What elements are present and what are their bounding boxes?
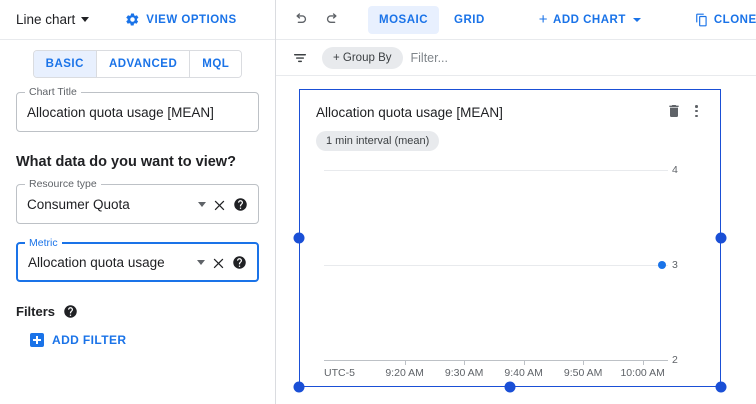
kebab-dot (695, 115, 698, 118)
add-chart-label: ADD CHART (553, 14, 626, 26)
plus-icon: + (539, 12, 548, 27)
interval-chip: 1 min interval (mean) (316, 131, 439, 151)
help-icon (232, 255, 247, 270)
resource-type-help-button[interactable] (233, 197, 248, 212)
chevron-down-icon (633, 18, 641, 22)
resize-handle[interactable] (716, 382, 727, 393)
dashboard-panel: MOSAIC GRID + ADD CHART CLONE CHART (276, 0, 756, 404)
timezone-label: UTC-5 (324, 367, 355, 379)
chart-plot-area: 234UTC-59:20 AM9:30 AM9:40 AM9:50 AM10:0… (316, 170, 704, 360)
kebab-dot (695, 110, 698, 113)
resize-handle[interactable] (294, 382, 305, 393)
filters-label: Filters (16, 304, 55, 319)
metric-clear-button[interactable] (211, 255, 226, 270)
editor-tabs-row: BASIC ADVANCED MQL (0, 40, 275, 78)
x-axis-tick-label: 9:20 AM (385, 367, 424, 379)
delete-chart-button[interactable] (666, 103, 682, 119)
chart-card-header: Allocation quota usage [MEAN] (316, 104, 704, 122)
gear-icon (125, 12, 140, 27)
x-axis-tick-label: 9:50 AM (564, 367, 603, 379)
chart-type-label: Line chart (16, 12, 75, 27)
resource-type-legend: Resource type (25, 178, 101, 190)
x-axis-tick-mark (583, 360, 584, 365)
group-by-label: + Group By (333, 52, 392, 64)
resize-handle[interactable] (716, 233, 727, 244)
x-axis-tick-label: 10:00 AM (620, 367, 664, 379)
resize-handle[interactable] (294, 233, 305, 244)
resource-type-field[interactable]: Resource type Consumer Quota (16, 184, 259, 224)
tab-mql-label: MQL (202, 58, 229, 70)
plus-icon (30, 333, 44, 347)
undo-button[interactable] (286, 6, 314, 34)
gridline (324, 265, 668, 266)
redo-icon (324, 11, 341, 28)
add-chart-button[interactable]: + ADD CHART (528, 6, 652, 34)
editor-form: Chart Title Allocation quota usage [MEAN… (0, 78, 275, 347)
add-filter-button[interactable]: ADD FILTER (30, 333, 259, 347)
dashboard-canvas: Allocation quota usage [MEAN] (276, 76, 756, 404)
app-root: Line chart VIEW OPTIONS BASIC ADVANCED M (0, 0, 756, 404)
chart-card-actions (666, 103, 704, 119)
chart-editor-panel: Line chart VIEW OPTIONS BASIC ADVANCED M (0, 0, 276, 404)
clone-chart-label: CLONE CHART (714, 14, 756, 26)
kebab-dot (695, 105, 698, 108)
copy-icon (695, 13, 709, 27)
group-by-chip[interactable]: + Group By (322, 47, 403, 69)
chart-card-title: Allocation quota usage [MEAN] (316, 104, 666, 122)
chevron-down-icon (81, 17, 89, 22)
mosaic-label: MOSAIC (379, 14, 428, 26)
y-axis-tick-label: 3 (672, 259, 698, 271)
resource-type-value: Consumer Quota (27, 197, 192, 212)
filters-section-header: Filters (16, 304, 259, 319)
undo-icon (292, 11, 309, 28)
help-icon (63, 304, 78, 319)
chart-title-value: Allocation quota usage [MEAN] (27, 105, 248, 120)
chart-card[interactable]: Allocation quota usage [MEAN] (299, 89, 721, 387)
left-panel-header: Line chart VIEW OPTIONS (0, 0, 275, 40)
resource-type-clear-button[interactable] (212, 197, 227, 212)
chart-card-menu-button[interactable] (688, 103, 704, 119)
tab-mql[interactable]: MQL (190, 51, 241, 77)
clone-chart-button[interactable]: CLONE CHART (684, 6, 756, 34)
y-axis-tick-label: 2 (672, 354, 698, 366)
metric-chevron-down-icon[interactable] (197, 260, 205, 265)
mosaic-layout-button[interactable]: MOSAIC (368, 6, 439, 34)
filter-list-icon (292, 50, 308, 66)
tab-advanced[interactable]: ADVANCED (97, 51, 190, 77)
metric-field[interactable]: Metric Allocation quota usage (16, 242, 259, 282)
x-axis-tick-label: 9:30 AM (445, 367, 484, 379)
tab-basic-label: BASIC (46, 58, 84, 70)
grid-layout-button[interactable]: GRID (443, 6, 496, 34)
x-axis-tick-mark (405, 360, 406, 365)
y-axis-tick-label: 4 (672, 164, 698, 176)
metric-legend: Metric (25, 237, 62, 249)
redo-button[interactable] (318, 6, 346, 34)
chart-title-legend: Chart Title (25, 86, 81, 98)
resize-handle[interactable] (505, 382, 516, 393)
x-axis-tick-mark (524, 360, 525, 365)
close-icon (211, 255, 226, 270)
chart-card-inner: Allocation quota usage [MEAN] (300, 90, 720, 386)
metric-help-button[interactable] (232, 255, 247, 270)
editor-tabs: BASIC ADVANCED MQL (33, 50, 243, 78)
filters-help-button[interactable] (63, 304, 78, 319)
chart-title-field[interactable]: Chart Title Allocation quota usage [MEAN… (16, 92, 259, 132)
add-filter-label: ADD FILTER (52, 333, 126, 347)
data-section-heading: What data do you want to view? (16, 154, 259, 170)
tab-advanced-label: ADVANCED (109, 58, 177, 70)
x-axis-tick-mark (464, 360, 465, 365)
close-icon (212, 197, 227, 212)
chart-type-dropdown[interactable]: Line chart (12, 10, 93, 29)
dashboard-filter-bar: + Group By Filter... (276, 40, 756, 76)
filter-list-button[interactable] (286, 44, 314, 72)
chart-data-point[interactable] (658, 261, 666, 269)
x-axis-tick-label: 9:40 AM (504, 367, 543, 379)
tab-basic[interactable]: BASIC (34, 51, 97, 77)
metric-value: Allocation quota usage (28, 255, 191, 270)
view-options-button[interactable]: VIEW OPTIONS (125, 12, 236, 27)
view-options-label: VIEW OPTIONS (146, 14, 236, 26)
x-axis-tick-mark (643, 360, 644, 365)
filter-input[interactable]: Filter... (411, 51, 449, 65)
grid-label: GRID (454, 14, 485, 26)
trash-icon (666, 103, 682, 119)
resource-type-chevron-down-icon[interactable] (198, 202, 206, 207)
dashboard-toolbar: MOSAIC GRID + ADD CHART CLONE CHART (276, 0, 756, 40)
gridline (324, 360, 668, 361)
help-icon (233, 197, 248, 212)
gridline (324, 170, 668, 171)
